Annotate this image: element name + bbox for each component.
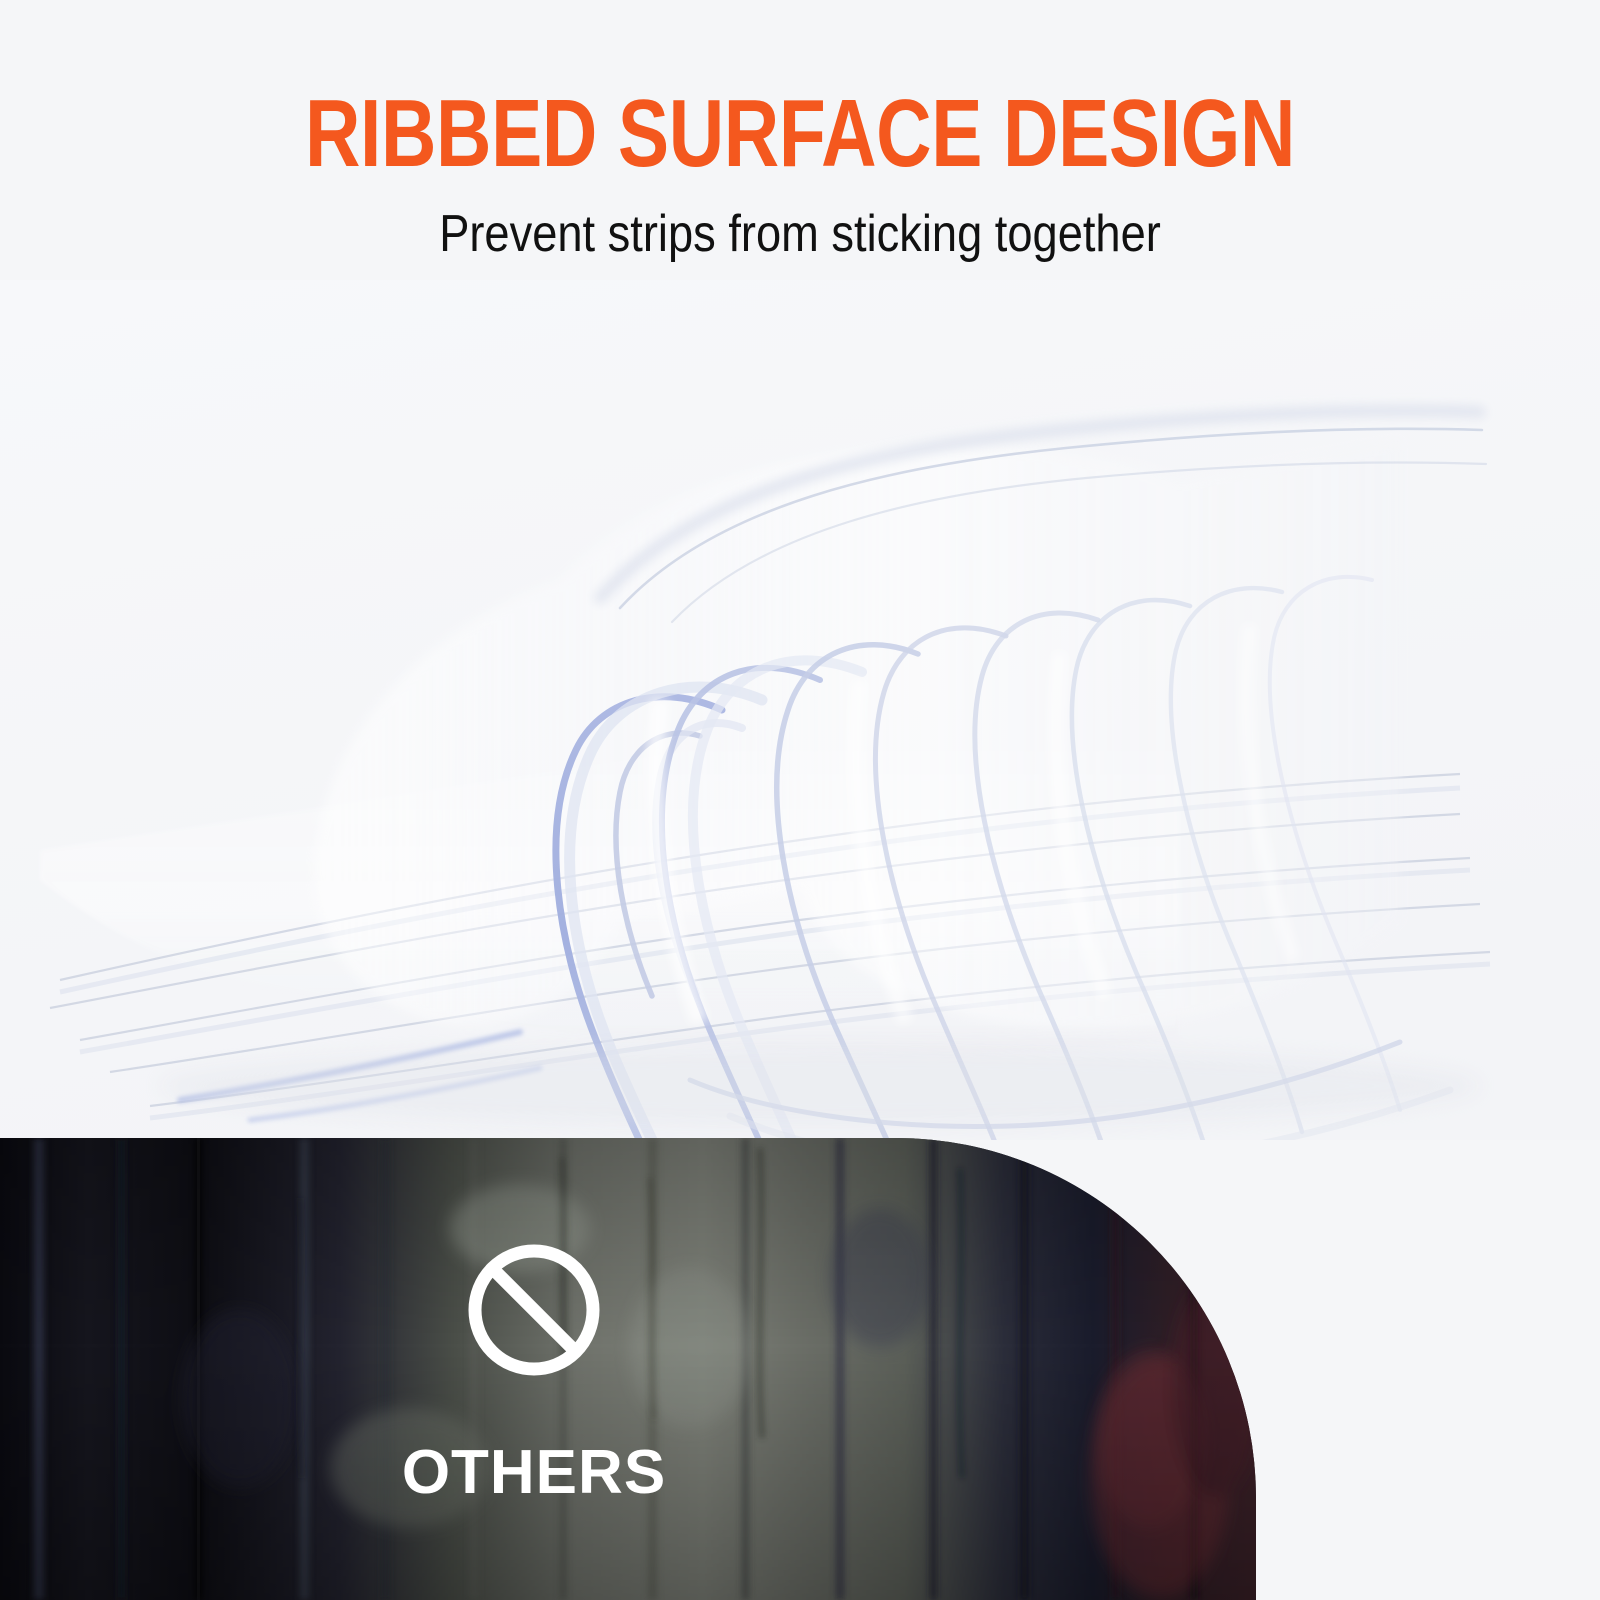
- product-photo: [0, 280, 1600, 1140]
- header-block: RIBBED SURFACE DESIGN Prevent strips fro…: [0, 0, 1600, 290]
- page-subtitle: Prevent strips from sticking together: [104, 205, 1496, 263]
- others-label: OTHERS: [0, 1438, 1068, 1508]
- marketing-image: RIBBED SURFACE DESIGN Prevent strips fro…: [0, 0, 1600, 1600]
- dirty-strips-illustration: [0, 1138, 1256, 1600]
- prohibited-icon: [466, 1242, 602, 1378]
- others-comparison-panel: [0, 1138, 1256, 1600]
- page-title: RIBBED SURFACE DESIGN: [160, 86, 1440, 182]
- others-photo: [0, 1138, 1256, 1600]
- pvc-strip-curtain-illustration: [0, 280, 1600, 1140]
